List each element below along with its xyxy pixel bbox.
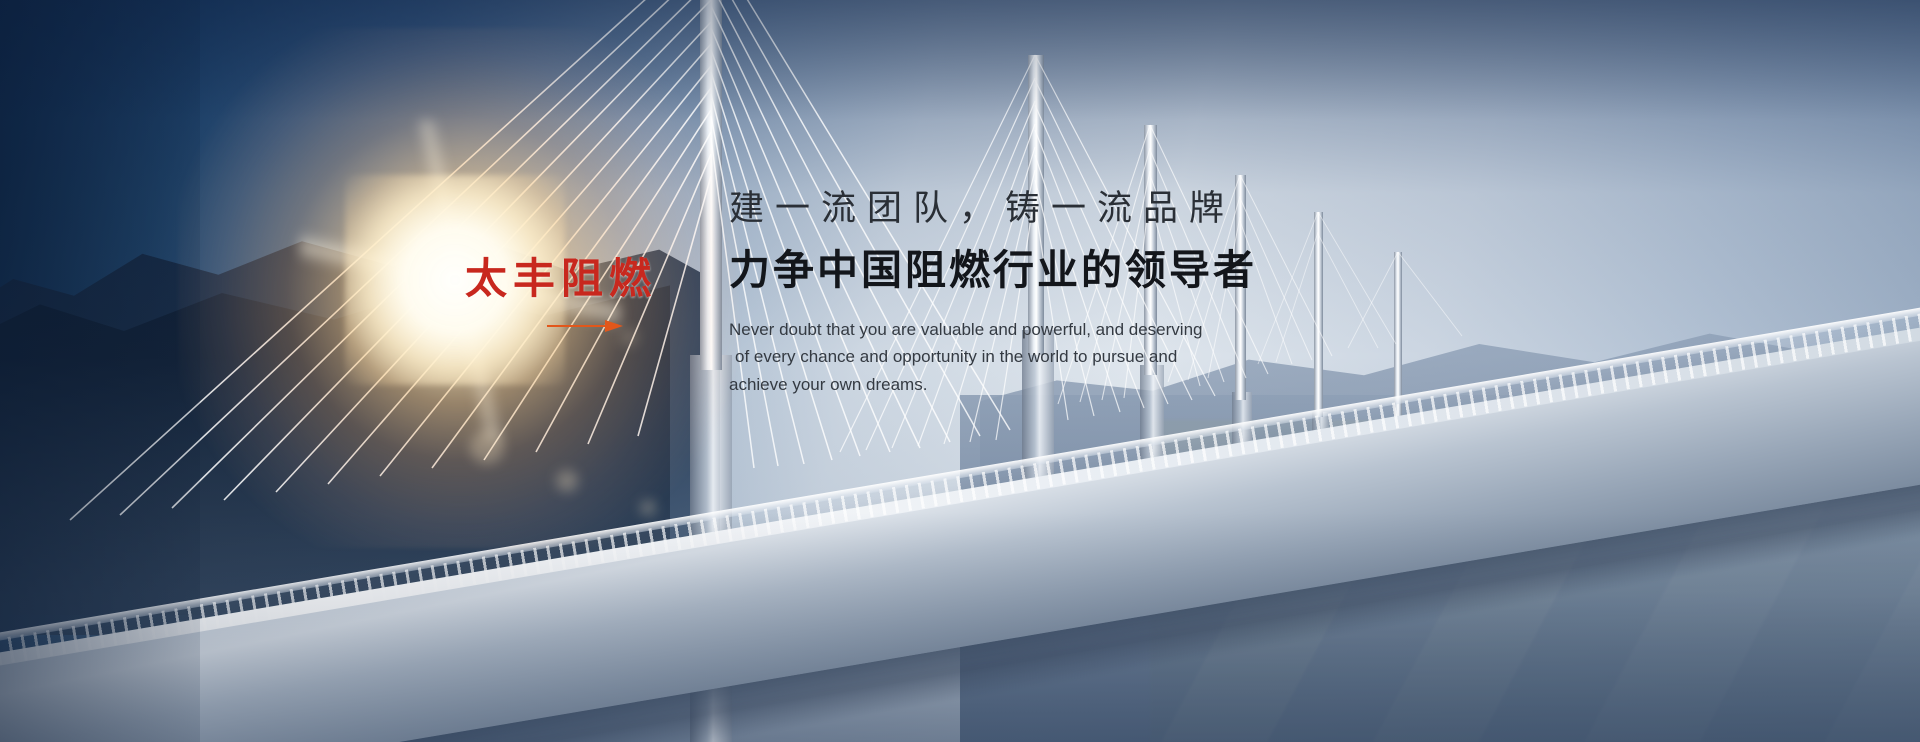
arrow-right-icon [547,320,625,332]
headline-secondary: 力争中国阻燃行业的领导者 [729,247,1349,294]
body-line-2: of every chance and opportunity in the w… [729,343,1294,371]
headline-primary: 建一流团队，铸一流品牌 [729,190,1349,229]
brand-logo[interactable]: 太丰阻燃 [465,258,665,332]
body-line-3: achieve your own dreams. [729,371,1294,399]
brand-logo-text: 太丰阻燃 [465,258,665,300]
body-paragraph: Never doubt that you are valuable and po… [729,316,1294,399]
hero-banner: 太丰阻燃 建一流团队，铸一流品牌 力争中国阻燃行业的领导者 Never doub… [0,0,1920,742]
body-line-1: Never doubt that you are valuable and po… [729,316,1294,344]
banner-content: 太丰阻燃 建一流团队，铸一流品牌 力争中国阻燃行业的领导者 Never doub… [0,0,1920,742]
headline-group: 建一流团队，铸一流品牌 力争中国阻燃行业的领导者 Never doubt tha… [729,190,1349,398]
